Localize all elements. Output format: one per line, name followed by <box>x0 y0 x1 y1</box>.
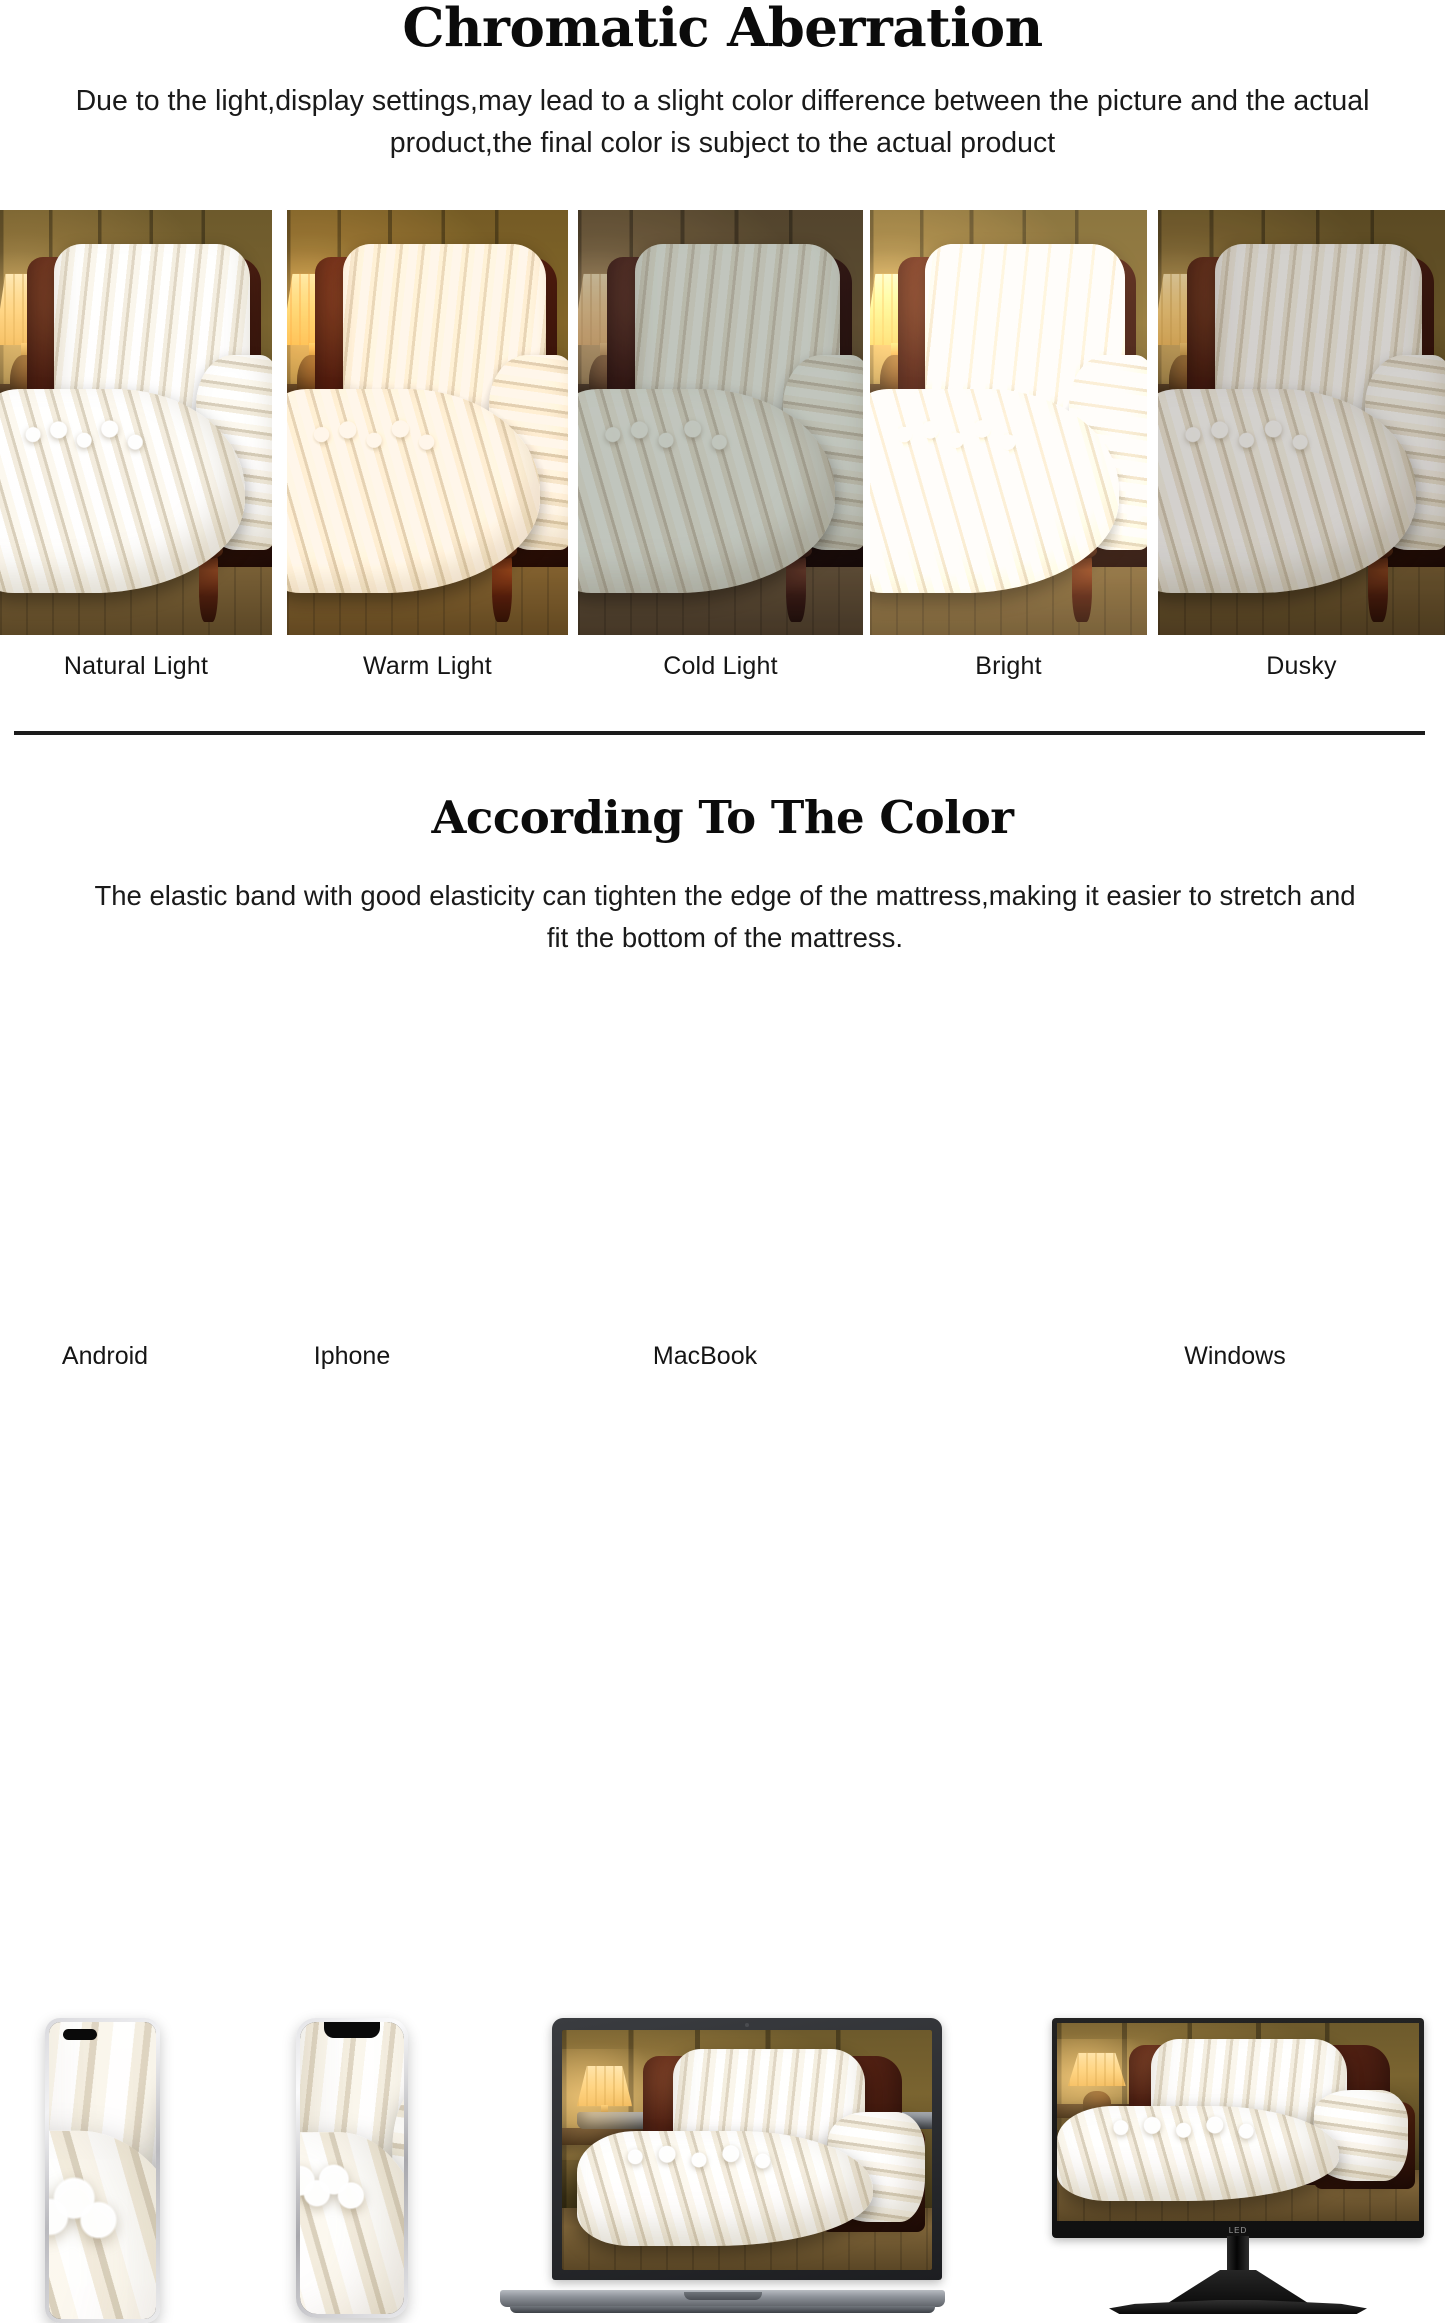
living-room-scene <box>287 210 568 635</box>
section-divider <box>14 731 1425 735</box>
device-preview-row: LED <box>0 1000 1445 1330</box>
throw-seat-drape <box>577 2131 873 2246</box>
panel-caption-cold-light: Cold Light <box>578 652 863 681</box>
webcam-icon <box>745 2023 749 2027</box>
macbook-lid <box>552 2018 942 2280</box>
throw-seat-drape <box>300 2131 404 2314</box>
throw-seat-drape <box>49 2130 156 2319</box>
section-2-title: According To The Color <box>0 790 1445 846</box>
macbook-foot <box>510 2306 935 2313</box>
photo-panel-cold-light <box>578 210 863 635</box>
faux-fur-throw-blanket <box>562 2030 932 2270</box>
panel-caption-natural-light: Natural Light <box>0 652 272 681</box>
living-room-scene <box>870 210 1147 635</box>
monitor-screen <box>1057 2023 1419 2221</box>
photo-panel-dusky <box>1158 210 1445 635</box>
monitor-feet <box>1109 2300 1367 2314</box>
android-screen <box>49 2022 156 2319</box>
photo-panel-natural-light <box>0 210 272 635</box>
macbook-mockup <box>500 2018 945 2313</box>
faux-fur-throw-blanket <box>49 2022 156 2319</box>
panel-caption-warm-light: Warm Light <box>287 652 568 681</box>
device-caption-android: Android <box>25 1342 185 1371</box>
living-room-scene <box>578 210 863 635</box>
device-caption-iphone: Iphone <box>272 1342 432 1371</box>
faux-fur-throw-blanket <box>287 210 568 635</box>
throw-seat-drape <box>0 389 245 593</box>
section-2-description: The elastic band with good elasticity ca… <box>80 875 1370 959</box>
photo-panel-warm-light <box>287 210 568 635</box>
product-infographic: Chromatic Aberration Due to the light,di… <box>0 0 1445 1372</box>
punch-hole-camera-icon <box>63 2029 97 2040</box>
macbook-screen <box>562 2030 932 2270</box>
notch-icon <box>324 2022 380 2038</box>
living-room-scene <box>300 2022 404 2314</box>
lighting-comparison-strip <box>0 210 1445 635</box>
faux-fur-throw-blanket <box>1057 2023 1419 2221</box>
living-room-scene <box>1158 210 1445 635</box>
windows-monitor-mockup: LED <box>1052 2018 1424 2318</box>
iphone-screen <box>300 2022 404 2314</box>
faux-fur-throw-blanket <box>1158 210 1445 635</box>
device-caption-windows: Windows <box>1155 1342 1315 1371</box>
living-room-scene <box>0 210 272 635</box>
faux-fur-throw-blanket <box>870 210 1147 635</box>
throw-seat-drape <box>578 389 835 593</box>
iphone-mockup <box>296 2018 408 2318</box>
device-caption-macbook: MacBook <box>625 1342 785 1371</box>
section-1-title: Chromatic Aberration <box>0 0 1445 58</box>
living-room-scene <box>1057 2023 1419 2221</box>
throw-seat-drape <box>1057 2106 1339 2201</box>
faux-fur-throw-blanket <box>300 2022 404 2314</box>
monitor-bezel: LED <box>1052 2018 1424 2238</box>
living-room-scene <box>49 2022 156 2319</box>
android-phone-mockup <box>45 2018 160 2323</box>
panel-caption-bright: Bright <box>870 652 1147 681</box>
macbook-hinge-notch <box>684 2292 762 2300</box>
throw-seat-drape <box>287 389 540 593</box>
photo-panel-bright <box>870 210 1147 635</box>
section-1-description: Due to the light,display settings,may le… <box>55 80 1390 164</box>
faux-fur-throw-blanket <box>578 210 863 635</box>
living-room-scene <box>562 2030 932 2270</box>
monitor-brand-logo: LED <box>1229 2226 1248 2235</box>
faux-fur-throw-blanket <box>0 210 272 635</box>
panel-caption-dusky: Dusky <box>1158 652 1445 681</box>
